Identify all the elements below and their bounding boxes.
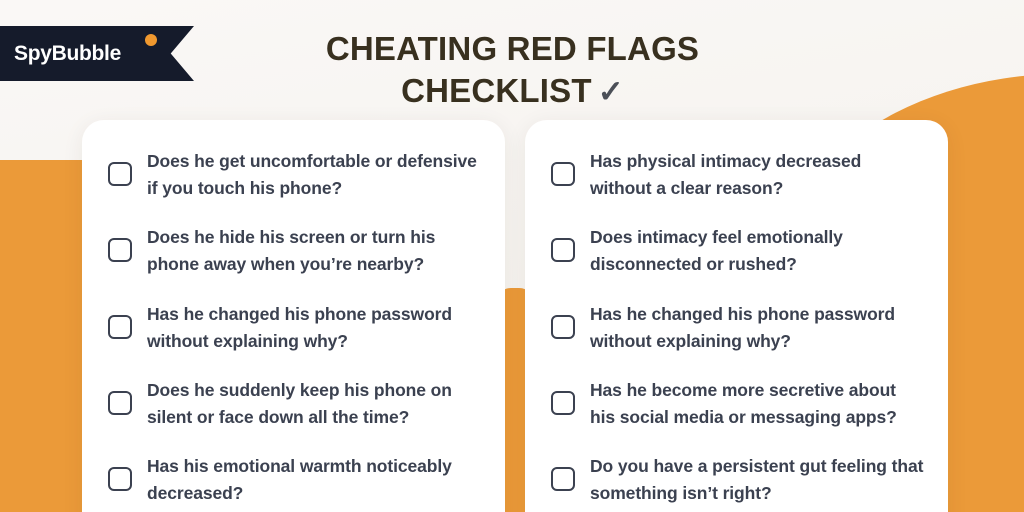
page-title-line-2-text: CHECKLIST	[401, 72, 592, 109]
list-item-label: Has he changed his phone password withou…	[147, 301, 481, 355]
checkbox-icon[interactable]	[551, 391, 575, 415]
orange-dot-icon	[145, 34, 157, 46]
checkbox-icon[interactable]	[108, 467, 132, 491]
list-item[interactable]: Has physical intimacy decreased without …	[551, 148, 924, 202]
list-item-label: Does intimacy feel emotionally disconnec…	[590, 224, 924, 278]
list-item[interactable]: Does he hide his screen or turn his phon…	[108, 224, 481, 278]
page-title: CHEATING RED FLAGS CHECKLIST✓	[200, 28, 825, 111]
list-item-label: Do you have a persistent gut feeling tha…	[590, 453, 924, 507]
checkbox-icon[interactable]	[551, 467, 575, 491]
list-item-label: Has he become more secretive about his s…	[590, 377, 924, 431]
checkmark-icon: ✓	[598, 74, 624, 109]
list-item-label: Has physical intimacy decreased without …	[590, 148, 924, 202]
list-item[interactable]: Do you have a persistent gut feeling tha…	[551, 453, 924, 507]
list-item-label: Has his emotional warmth noticeably decr…	[147, 453, 481, 507]
background-blob-left-fill	[0, 160, 85, 512]
list-item-label: Does he suddenly keep his phone on silen…	[147, 377, 481, 431]
list-item-label: Does he get uncomfortable or defensive i…	[147, 148, 481, 202]
checkbox-icon[interactable]	[551, 162, 575, 186]
checklist-card-right: Has physical intimacy decreased without …	[525, 120, 948, 512]
checklist-infographic: SpyBubble CHEATING RED FLAGS CHECKLIST✓ …	[0, 0, 1024, 512]
checkbox-icon[interactable]	[551, 315, 575, 339]
list-item[interactable]: Does he get uncomfortable or defensive i…	[108, 148, 481, 202]
page-title-line-1: CHEATING RED FLAGS	[326, 30, 699, 67]
list-item-label: Does he hide his screen or turn his phon…	[147, 224, 481, 278]
list-item[interactable]: Has he changed his phone password withou…	[108, 301, 481, 355]
list-item[interactable]: Has his emotional warmth noticeably decr…	[108, 453, 481, 507]
list-item[interactable]: Does intimacy feel emotionally disconnec…	[551, 224, 924, 278]
brand-logo-ribbon: SpyBubble	[0, 26, 194, 81]
brand-name: SpyBubble	[14, 42, 121, 66]
list-item[interactable]: Has he become more secretive about his s…	[551, 377, 924, 431]
page-title-line-2: CHECKLIST✓	[200, 70, 825, 112]
checklist-card-left: Does he get uncomfortable or defensive i…	[82, 120, 505, 512]
list-item[interactable]: Has he changed his phone password withou…	[551, 301, 924, 355]
checkbox-icon[interactable]	[108, 391, 132, 415]
list-item-label: Has he changed his phone password withou…	[590, 301, 924, 355]
checkbox-icon[interactable]	[108, 238, 132, 262]
checkbox-icon[interactable]	[551, 238, 575, 262]
checkbox-icon[interactable]	[108, 315, 132, 339]
checkbox-icon[interactable]	[108, 162, 132, 186]
list-item[interactable]: Does he suddenly keep his phone on silen…	[108, 377, 481, 431]
